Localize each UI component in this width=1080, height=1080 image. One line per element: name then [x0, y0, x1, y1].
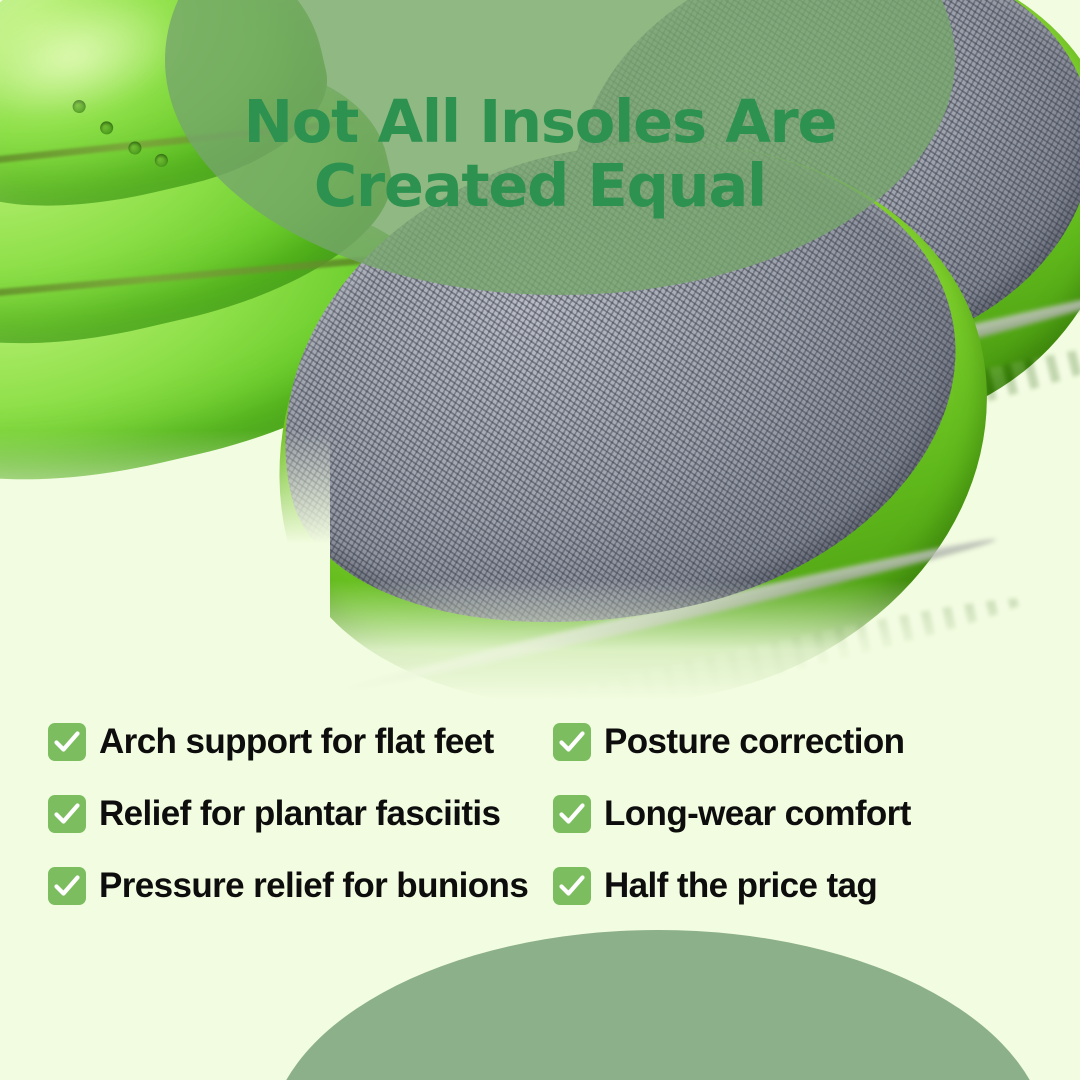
- benefit-item: Posture correction: [553, 723, 993, 761]
- benefit-label: Half the price tag: [604, 867, 877, 905]
- benefit-item: Long-wear comfort: [553, 795, 993, 833]
- check-square-icon: [48, 723, 86, 761]
- check-square-icon: [553, 867, 591, 905]
- bottom-decorative-blob: [268, 930, 1048, 1080]
- poster-canvas: Not All Insoles Are Created Equal Arch s…: [0, 0, 1080, 1080]
- check-square-icon: [553, 795, 591, 833]
- benefit-item: Arch support for flat feet: [48, 723, 553, 761]
- check-square-icon: [553, 723, 591, 761]
- check-square-icon: [48, 867, 86, 905]
- photo-fade-bottom: [0, 580, 1080, 700]
- benefit-item: Relief for plantar fasciitis: [48, 795, 553, 833]
- benefit-label: Arch support for flat feet: [99, 723, 494, 761]
- benefit-label: Posture correction: [604, 723, 904, 761]
- benefit-label: Pressure relief for bunions: [99, 867, 528, 905]
- benefit-label: Relief for plantar fasciitis: [99, 795, 500, 833]
- check-square-icon: [48, 795, 86, 833]
- benefit-label: Long-wear comfort: [604, 795, 911, 833]
- page-title: Not All Insoles Are Created Equal: [0, 90, 1080, 218]
- benefit-item: Pressure relief for bunions: [48, 867, 553, 905]
- benefits-checklist: Arch support for flat feet Posture corre…: [48, 706, 1038, 922]
- benefit-item: Half the price tag: [553, 867, 993, 905]
